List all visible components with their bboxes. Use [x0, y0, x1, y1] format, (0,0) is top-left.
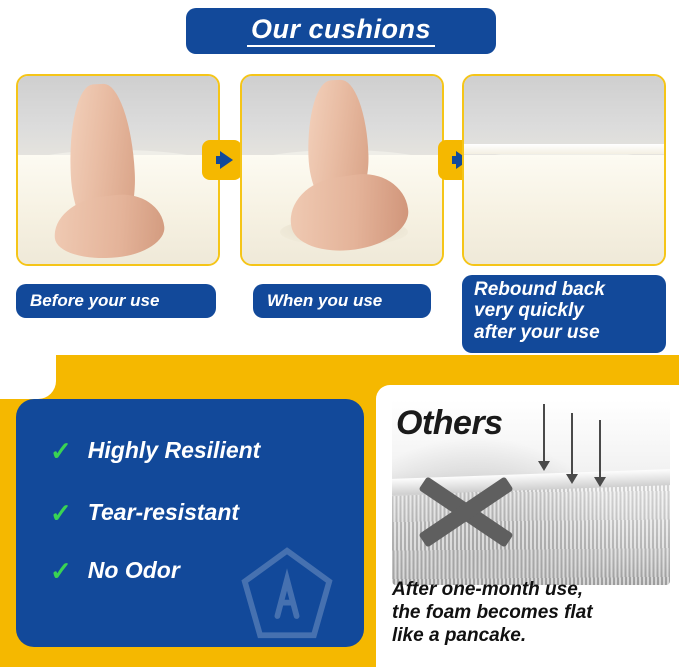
- title-pill: Our cushions: [186, 8, 496, 54]
- page-title-banner: Our cushions: [186, 8, 496, 54]
- foam-flat-surface: [464, 144, 664, 154]
- others-title: Others: [396, 404, 503, 443]
- step-arrow-1: [202, 140, 242, 180]
- step-caption-3-line-1: Rebound back: [474, 279, 654, 300]
- arrow-right-icon: [220, 151, 233, 169]
- house-logo-watermark: [238, 545, 336, 641]
- cross-mark-icon: [398, 470, 518, 566]
- foam-compressed-photo: [240, 74, 444, 266]
- foam-before-use-photo: [16, 74, 220, 266]
- pressure-arrow-1: [543, 404, 545, 462]
- features-card: ✓ Highly Resilient ✓ Tear-resistant ✓ No…: [16, 399, 364, 647]
- step-caption-1-label: Before your use: [30, 291, 159, 311]
- step-caption-2: When you use: [253, 284, 431, 318]
- check-icon: ✓: [50, 500, 72, 526]
- corner-notch: [0, 355, 56, 399]
- others-caption-line-1: After one-month use,: [392, 578, 676, 601]
- step-caption-3: Rebound back very quickly after your use: [462, 275, 666, 353]
- step-caption-1: Before your use: [16, 284, 216, 318]
- feature-label-2: Tear-resistant: [88, 499, 239, 526]
- others-caption: After one-month use, the foam becomes fl…: [392, 578, 676, 648]
- step-caption-3-line-2: very quickly: [474, 300, 654, 321]
- step-caption-3-line-3: after your use: [474, 322, 654, 343]
- check-icon: ✓: [50, 438, 72, 464]
- page-title: Our cushions: [247, 15, 435, 47]
- pressure-arrow-2: [571, 413, 573, 475]
- foam-rebounded-photo: [462, 74, 666, 266]
- others-caption-line-2: the foam becomes flat: [392, 601, 676, 624]
- others-caption-line-3: like a pancake.: [392, 624, 676, 647]
- feature-label-3: No Odor: [88, 557, 180, 584]
- step-caption-2-label: When you use: [267, 291, 382, 311]
- feature-label-1: Highly Resilient: [88, 437, 261, 464]
- check-icon: ✓: [50, 558, 72, 584]
- feature-item-3: ✓ No Odor: [50, 557, 180, 584]
- foam-block: [464, 155, 664, 264]
- feature-item-1: ✓ Highly Resilient: [50, 437, 260, 464]
- feature-item-2: ✓ Tear-resistant: [50, 499, 239, 526]
- pressure-arrow-3: [599, 420, 601, 478]
